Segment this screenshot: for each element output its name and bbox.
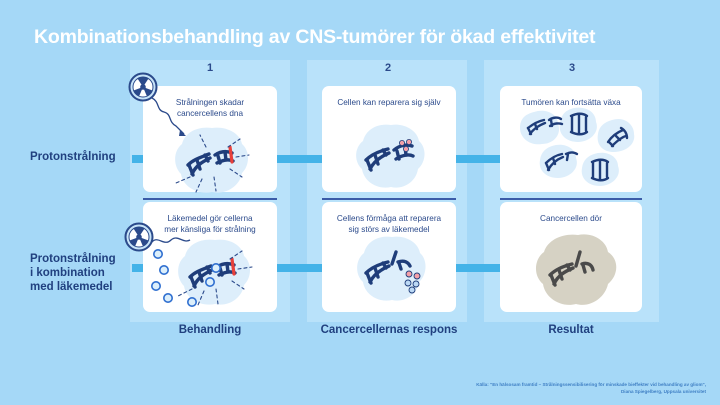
caption-row2-step3: Cancercellen dör	[508, 213, 634, 224]
dead-cancer-cell-row2	[530, 232, 626, 310]
caption-row1-step2: Cellen kan reparera sig själv	[330, 97, 448, 108]
step-number-1: 1	[190, 62, 230, 74]
drug-dots-row2	[150, 240, 260, 312]
cell-repairing-dna-row1	[352, 122, 430, 192]
column-caption-resultat: Resultat	[471, 324, 671, 336]
row-label-kombination: Protonstrålning i kombination med läkeme…	[30, 252, 134, 294]
row-divider-2	[322, 198, 456, 200]
page-title: Kombinationsbehandling av CNS-tumörer fö…	[34, 26, 595, 49]
source-citation: Källa: "En hälsosam framtid – Strålnings…	[476, 382, 706, 395]
column-caption-behandling: Behandling	[110, 324, 310, 336]
row-divider-3	[500, 198, 642, 200]
cell-blocked-repair-row2	[352, 234, 432, 306]
tumour-cell-cluster-row1	[508, 106, 638, 192]
cell-damaged-dna-row1	[170, 125, 254, 197]
row-divider	[143, 198, 277, 200]
step-number-3: 3	[552, 62, 592, 74]
row-label-protonstralning: Protonstrålning	[30, 150, 134, 164]
column-caption-respons: Cancercellernas respons	[289, 324, 489, 336]
step-number-2: 2	[368, 62, 408, 74]
caption-row2-step2: Cellens förmåga att reparera sig störs a…	[330, 213, 448, 235]
infographic-canvas: Kombinationsbehandling av CNS-tumörer fö…	[0, 0, 720, 405]
